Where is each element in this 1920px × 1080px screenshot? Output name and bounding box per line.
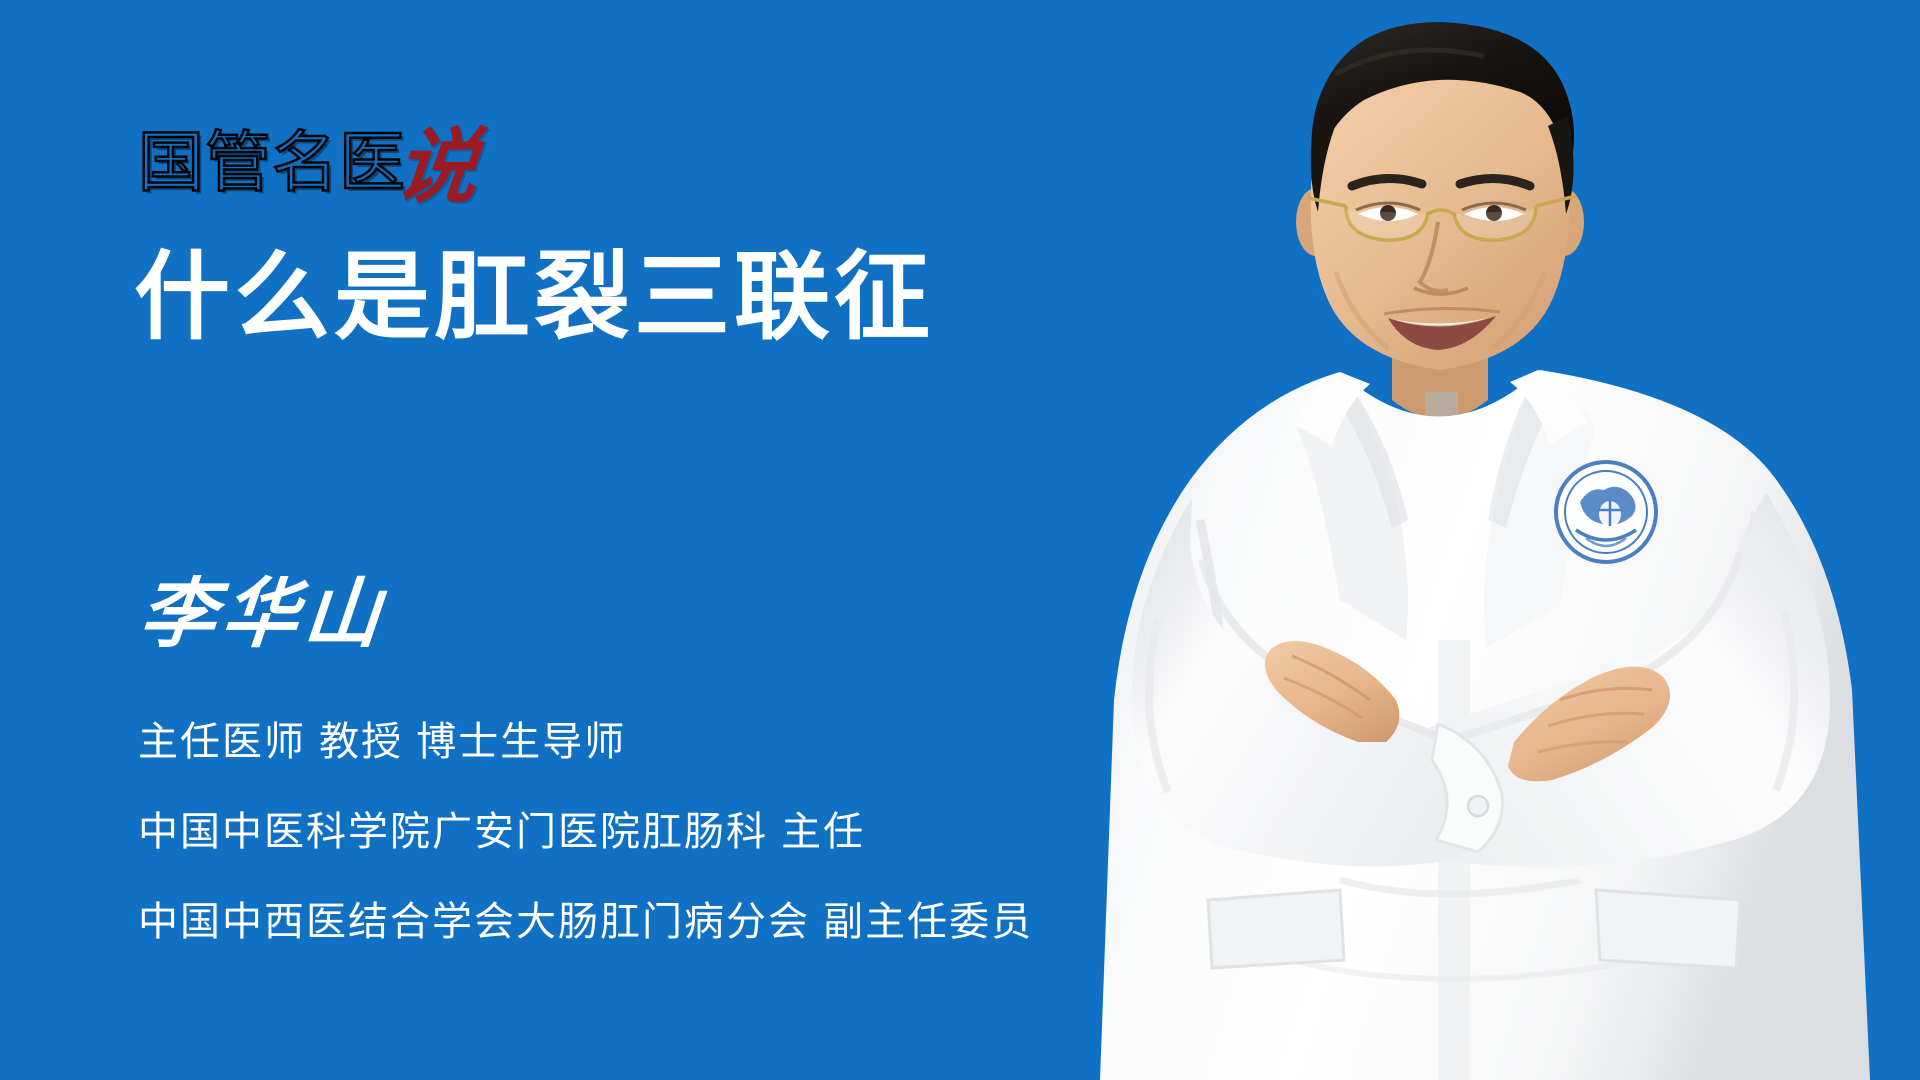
credential-line-3: 中国中西医结合学会大肠肛门病分会 副主任委员 [138,894,1033,950]
slide-canvas: 国管名医 说 什么是肛裂三联征 李华山 主任医师 教授 博士生导师 中国中医科学… [0,0,1920,1080]
doctor-portrait [1040,0,1920,1080]
credential-line-2: 中国中医科学院广安门医院肛肠科 主任 [138,804,1033,860]
coat-badge [1554,460,1658,564]
speaker-credentials: 主任医师 教授 博士生导师 中国中医科学院广安门医院肛肠科 主任 中国中西医结合… [138,714,1033,950]
doctor-head [1296,22,1584,370]
program-logo-accent-text: 说 [392,132,481,202]
page-title: 什么是肛裂三联征 [134,238,934,358]
program-logo-main-text: 国管名医 [138,130,406,196]
program-logo: 国管名医 说 [138,104,478,196]
speaker-name: 李华山 [136,566,390,662]
credential-line-1: 主任医师 教授 博士生导师 [138,714,1033,770]
